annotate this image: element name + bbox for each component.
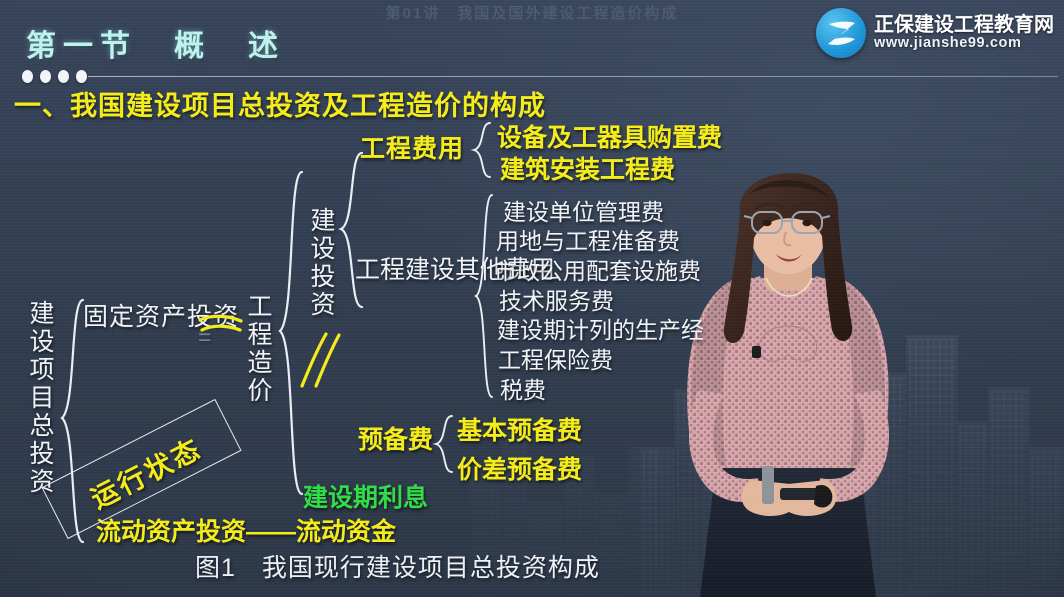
engineering-fee-item-1: 建筑安装工程费 xyxy=(500,150,675,186)
other-fee-item-1: 用地与工程准备费 xyxy=(496,222,680,256)
brand-logo: 正保建设工程教育网 www.jianshe99.com xyxy=(816,8,1054,58)
video-stage: 建设项目总投资 固定资产投资 = 工程造价 建设投资 工程费用 xyxy=(0,0,1064,597)
reserve-fee-item-1: 价差预备费 xyxy=(457,450,582,486)
diagram-node-reserve-fee: 预备费 xyxy=(358,420,433,456)
other-fee-item-6: 税费 xyxy=(500,371,546,405)
dot-icon-1 xyxy=(22,70,33,83)
diagram-node-engineering-fee: 工程费用 xyxy=(360,129,464,165)
decorative-dots xyxy=(22,70,87,83)
section-title: 第一节 概 述 xyxy=(26,21,285,65)
other-fee-item-4: 建设期计列的生产经 xyxy=(497,311,704,345)
page-title: 一、我国建设项目总投资及工程造价的构成 xyxy=(14,84,546,123)
other-fee-item-2: 市政公用配套设施费 xyxy=(494,252,701,286)
brace-reserve-fee xyxy=(432,413,456,475)
header-divider xyxy=(88,76,1058,77)
dot-icon-3 xyxy=(58,70,69,83)
brace-engineering-fee xyxy=(470,120,494,180)
diagram-node-fixed-asset-investment: 固定资产投资 xyxy=(83,303,183,333)
dot-icon-4 xyxy=(76,70,87,83)
brand-text: 正保建设工程教育网 www.jianshe99.com xyxy=(874,15,1054,52)
brace-other-fee xyxy=(472,192,496,400)
diagram-node-construction-investment: 建设投资 xyxy=(303,207,339,319)
reserve-fee-item-0: 基本预备费 xyxy=(457,411,582,447)
diagram-node-construction-period-interest: 建设期利息 xyxy=(303,478,428,514)
diagram-node-root: 建设项目总投资 xyxy=(22,300,58,496)
brace-construction-investment xyxy=(336,150,366,310)
engineering-fee-item-0: 设备及工器具购置费 xyxy=(497,118,722,154)
diagram-node-project-cost: 工程造价 xyxy=(240,293,276,405)
dot-icon-2 xyxy=(40,70,51,83)
diagram-node-other-fee: 工程建设其他费用 xyxy=(355,255,463,285)
brand-url: www.jianshe99.com xyxy=(874,36,1054,51)
other-fee-item-5: 工程保险费 xyxy=(498,341,613,375)
equals-sign-label: = xyxy=(198,324,211,351)
z-swoosh-icon xyxy=(816,8,866,58)
diagram-node-current-asset-investment: 流动资产投资——流动资金 xyxy=(96,512,396,548)
brand-name: 正保建设工程教育网 xyxy=(874,15,1054,36)
figure-caption: 图1 我国现行建设项目总投资构成 xyxy=(195,548,600,584)
slash-annotation-icon xyxy=(296,330,342,390)
